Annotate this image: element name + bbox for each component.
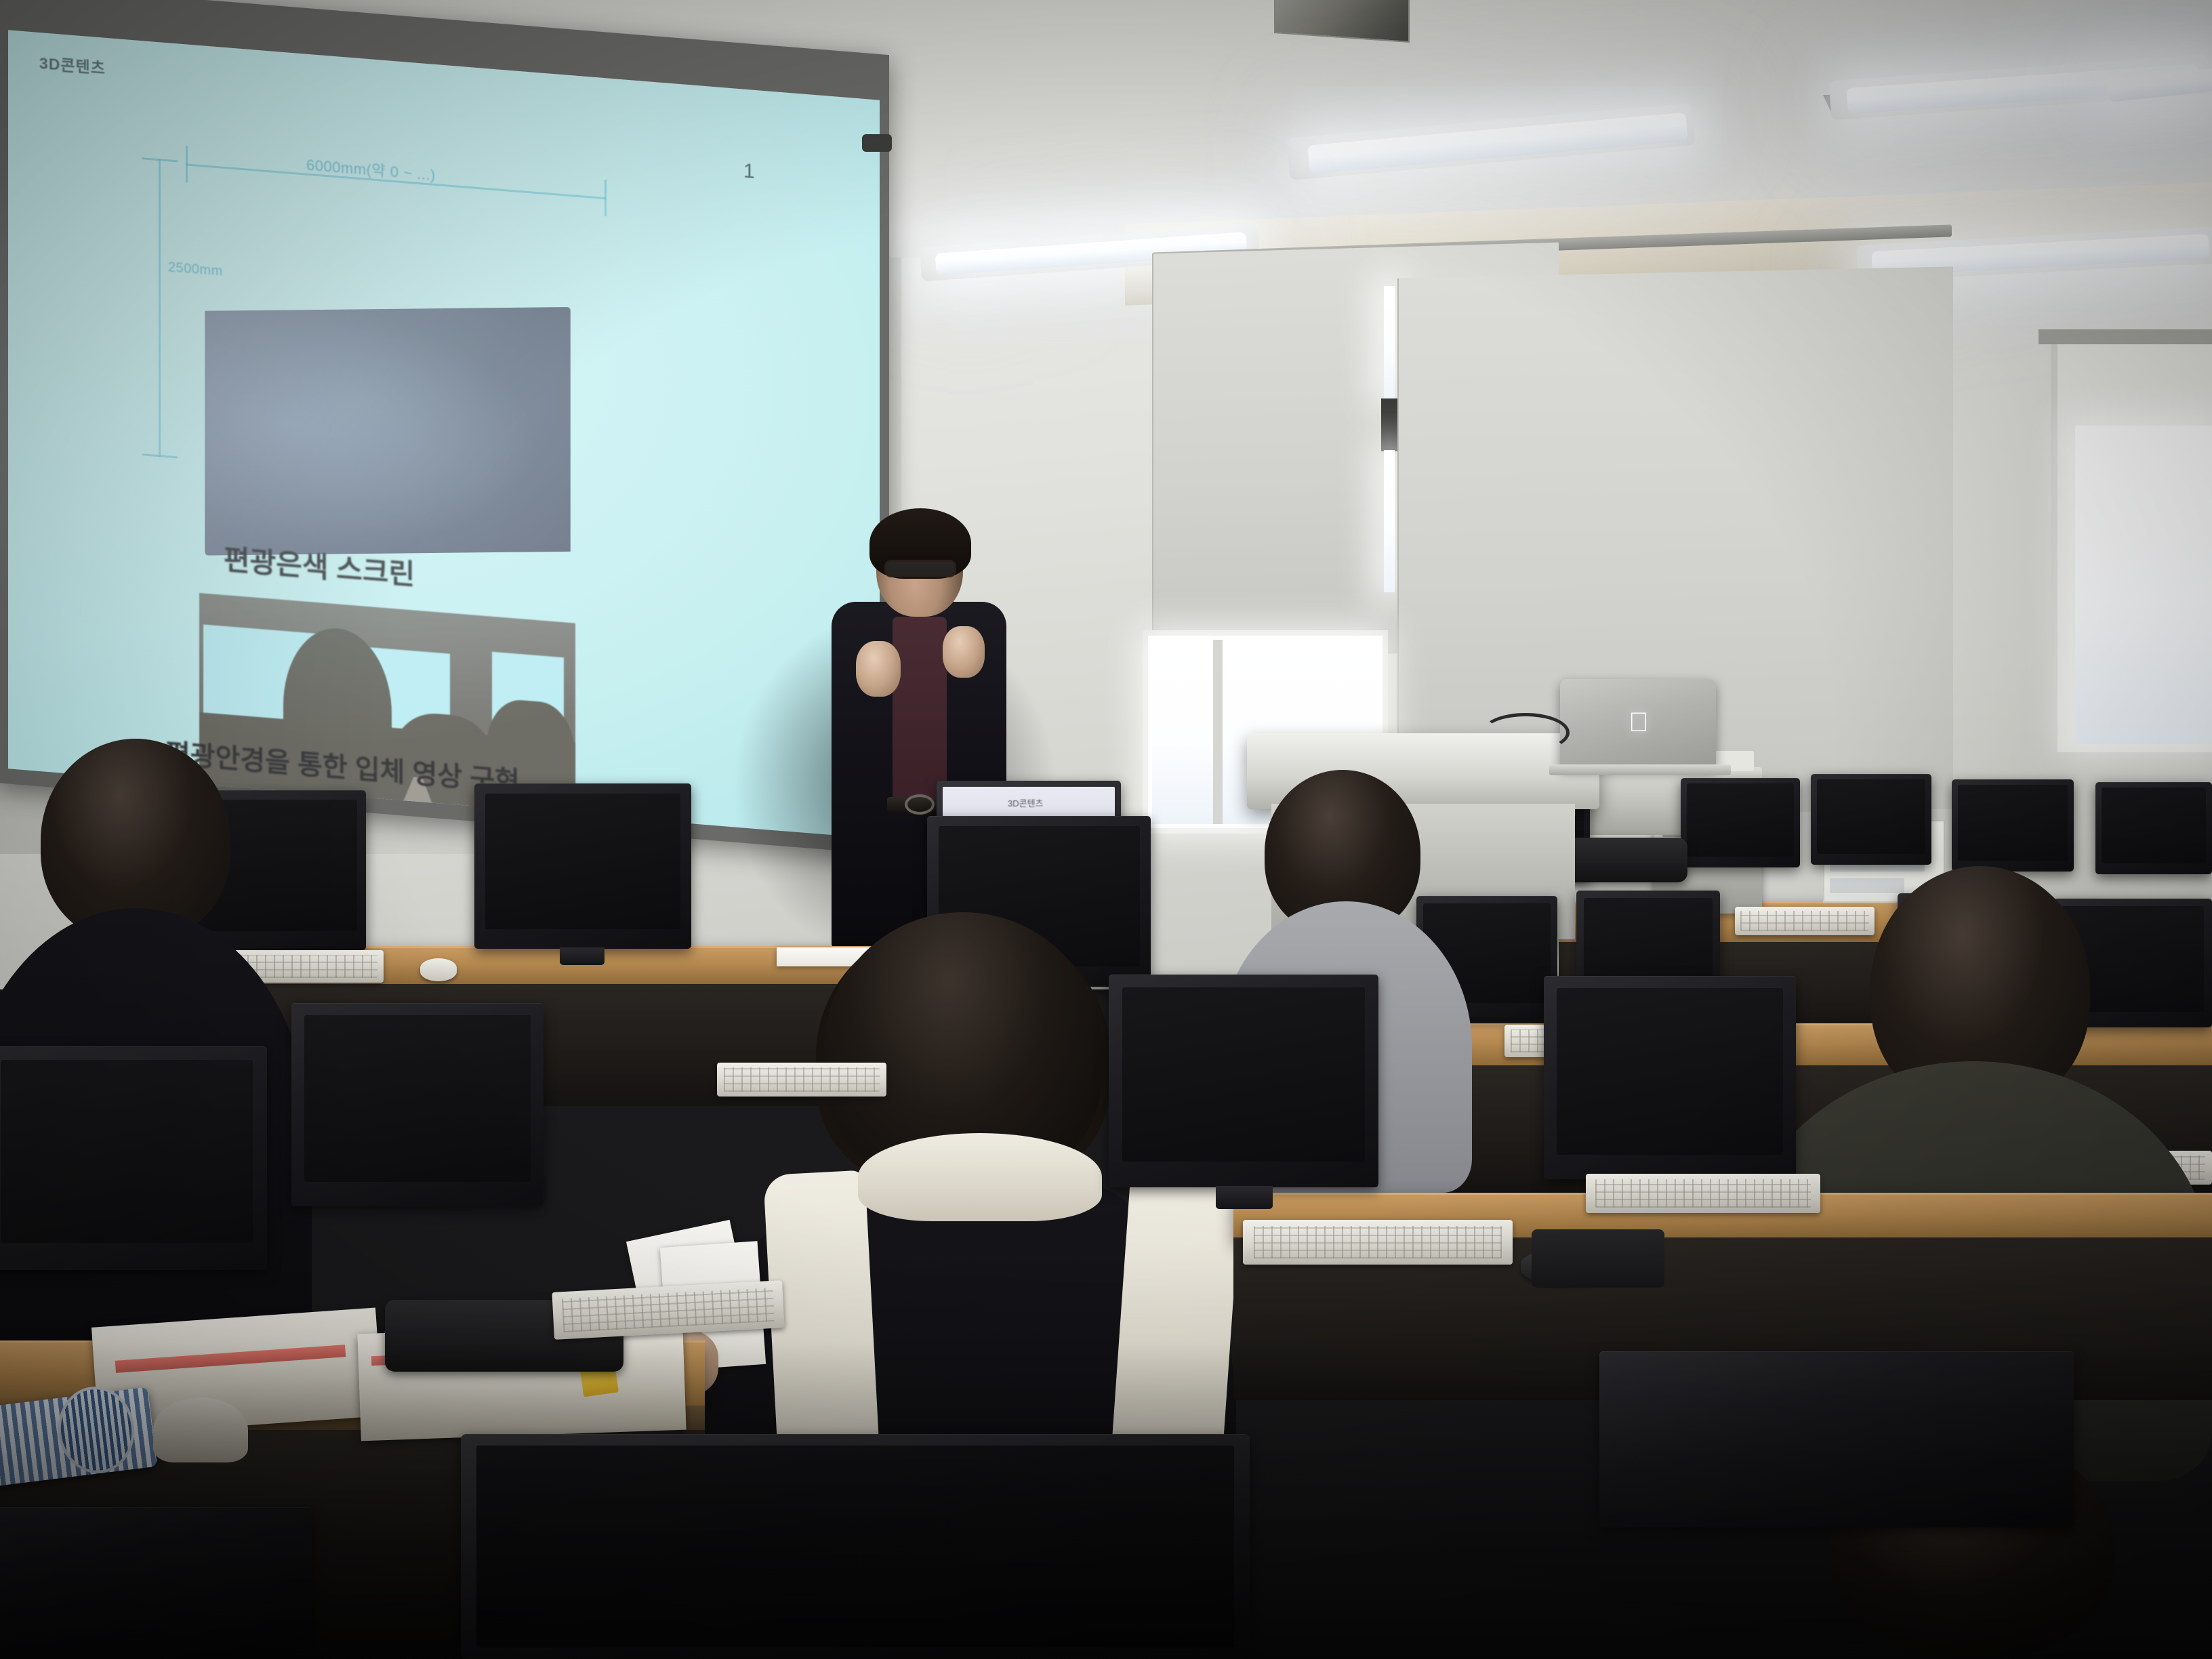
blind-gap-clip — [1381, 398, 1397, 451]
dimension-label-height: 2500mm — [168, 260, 223, 280]
monitor-front-left-1 — [291, 1003, 544, 1206]
monitor-front-right-2 — [1544, 976, 1796, 1179]
window-right-glass — [2075, 426, 2212, 744]
mouse-left-back[interactable] — [420, 958, 457, 981]
student-center-scarf-collar — [858, 1133, 1102, 1221]
belt-buckle-icon — [905, 794, 935, 815]
monitor-back-3 — [1952, 779, 2074, 872]
apple-logo-icon:  — [1625, 709, 1652, 739]
dimension-tick-right — [605, 180, 607, 216]
monitor-front-right-1 — [1109, 975, 1378, 1187]
bowl-item — [153, 1397, 248, 1462]
keyboard-front-right-2[interactable] — [1586, 1174, 1820, 1213]
glasses-icon — [884, 560, 956, 577]
pencil-case-back[interactable] — [1565, 838, 1687, 882]
monitor-left-back-1 — [474, 783, 691, 949]
presenter-shirt — [893, 617, 947, 806]
presenter-monitor-title: 3D콘텐츠 — [1008, 796, 1044, 809]
presenter-hand-left — [856, 641, 901, 697]
screen-mount — [862, 134, 892, 152]
mousepad-front-right — [1532, 1229, 1664, 1288]
keyboard-front-right-1[interactable] — [1243, 1220, 1513, 1265]
window-right-head — [2039, 329, 2212, 344]
monitor-back-4 — [2095, 782, 2212, 874]
monitor-foreground-right — [1599, 1351, 2074, 1528]
slide-header-text: 3D콘텐츠 — [39, 50, 106, 79]
monitor-left-back-1-stand — [560, 947, 605, 965]
monitor-foreground-center — [461, 1434, 1250, 1659]
keyboard-front-left-2[interactable] — [717, 1063, 886, 1097]
daylight-gap-lower — [1384, 450, 1395, 592]
monitor-front-right-1-stand — [1216, 1186, 1273, 1209]
keyboard-back-1[interactable] — [1735, 907, 1875, 935]
classroom-photo: 3D콘텐츠 1 2500mm 6000mm(약 0 ~ ...) 편광은색 스크… — [0, 0, 2212, 1659]
slide-number: 1 — [743, 160, 755, 184]
window-mullion-left — [1213, 640, 1223, 824]
presenter-hand-right — [943, 626, 985, 678]
daylight-gap — [1384, 286, 1395, 400]
monitor-front-left-2 — [0, 1046, 267, 1270]
macbook-base — [1549, 764, 1731, 775]
dimension-line-vertical — [159, 159, 161, 457]
monitor-back-2 — [1811, 774, 1931, 865]
monitor-back-1 — [1681, 778, 1800, 867]
polarized-screen-figure — [205, 278, 571, 585]
dimension-tick-left — [186, 146, 188, 182]
cable-loop — [1481, 713, 1570, 752]
monitor-foreground-left — [0, 1507, 312, 1659]
projection-screen: 3D콘텐츠 1 2500mm 6000mm(약 0 ~ ...) 편광은색 스크… — [8, 30, 880, 838]
